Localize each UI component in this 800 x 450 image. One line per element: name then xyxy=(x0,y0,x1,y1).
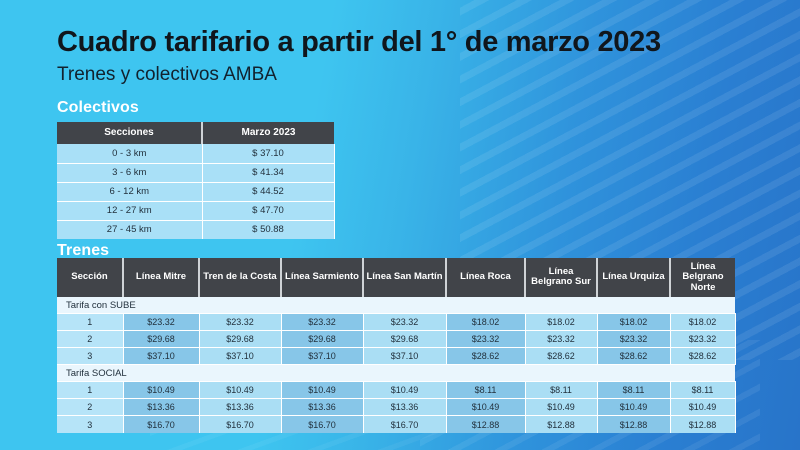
column-header-marzo-2023: Marzo 2023 xyxy=(202,122,334,144)
cell-belgrano-sur: $23.32 xyxy=(525,331,597,348)
table-row: 2 $13.36 $13.36 $13.36 $13.36 $10.49 $10… xyxy=(57,399,735,416)
column-header-linea-roca: Línea Roca xyxy=(446,258,525,297)
cell-sarmiento: $29.68 xyxy=(281,331,363,348)
cell-seccion: 6 - 12 km xyxy=(57,182,202,201)
cell-sarmiento: $37.10 xyxy=(281,348,363,365)
cell-roca: $23.32 xyxy=(446,331,525,348)
cell-roca: $12.88 xyxy=(446,416,525,433)
cell-roca: $18.02 xyxy=(446,314,525,331)
cell-san-martin: $37.10 xyxy=(363,348,446,365)
cell-san-martin: $29.68 xyxy=(363,331,446,348)
cell-sarmiento: $13.36 xyxy=(281,399,363,416)
colectivos-fare-table: Secciones Marzo 2023 0 - 3 km $ 37.10 3 … xyxy=(57,122,335,239)
cell-seccion: 12 - 27 km xyxy=(57,201,202,220)
cell-costa: $29.68 xyxy=(199,331,281,348)
column-header-linea-mitre: Línea Mitre xyxy=(123,258,199,297)
section-heading-colectivos: Colectivos xyxy=(57,99,139,117)
cell-precio: $ 50.88 xyxy=(202,220,334,239)
cell-costa: $23.32 xyxy=(199,314,281,331)
table-row: 3 $37.10 $37.10 $37.10 $37.10 $28.62 $28… xyxy=(57,348,735,365)
cell-mitre: $13.36 xyxy=(123,399,199,416)
table-row: 0 - 3 km $ 37.10 xyxy=(57,144,334,163)
cell-costa: $10.49 xyxy=(199,382,281,399)
cell-mitre: $16.70 xyxy=(123,416,199,433)
cell-seccion: 0 - 3 km xyxy=(57,144,202,163)
column-header-linea-san-martin: Línea San Martín xyxy=(363,258,446,297)
cell-belgrano-norte: $28.62 xyxy=(670,348,735,365)
infographic-canvas: Cuadro tarifario a partir del 1° de marz… xyxy=(0,0,800,450)
group-label-row: Tarifa con SUBE xyxy=(57,297,735,314)
cell-mitre: $23.32 xyxy=(123,314,199,331)
cell-costa: $16.70 xyxy=(199,416,281,433)
cell-seccion: 3 - 6 km xyxy=(57,163,202,182)
cell-roca: $28.62 xyxy=(446,348,525,365)
trenes-fare-table: Sección Línea Mitre Tren de la Costa Lín… xyxy=(57,258,736,433)
cell-belgrano-norte: $10.49 xyxy=(670,399,735,416)
column-header-linea-urquiza: Línea Urquiza xyxy=(597,258,670,297)
cell-belgrano-sur: $8.11 xyxy=(525,382,597,399)
cell-mitre: $29.68 xyxy=(123,331,199,348)
table-row: 27 - 45 km $ 50.88 xyxy=(57,220,334,239)
column-header-linea-belgrano-norte: Línea Belgrano Norte xyxy=(670,258,735,297)
cell-belgrano-sur: $10.49 xyxy=(525,399,597,416)
cell-precio: $ 41.34 xyxy=(202,163,334,182)
table-row: 2 $29.68 $29.68 $29.68 $29.68 $23.32 $23… xyxy=(57,331,735,348)
cell-precio: $ 47.70 xyxy=(202,201,334,220)
page-title: Cuadro tarifario a partir del 1° de marz… xyxy=(57,26,661,59)
column-header-linea-sarmiento: Línea Sarmiento xyxy=(281,258,363,297)
cell-seccion: 3 xyxy=(57,348,123,365)
cell-sarmiento: $10.49 xyxy=(281,382,363,399)
cell-seccion: 2 xyxy=(57,399,123,416)
cell-san-martin: $10.49 xyxy=(363,382,446,399)
cell-precio: $ 37.10 xyxy=(202,144,334,163)
cell-urquiza: $18.02 xyxy=(597,314,670,331)
table-header-row: Sección Línea Mitre Tren de la Costa Lín… xyxy=(57,258,735,297)
group-label-tarifa-social: Tarifa SOCIAL xyxy=(57,365,735,382)
cell-sarmiento: $16.70 xyxy=(281,416,363,433)
table-row: 3 - 6 km $ 41.34 xyxy=(57,163,334,182)
cell-san-martin: $16.70 xyxy=(363,416,446,433)
cell-san-martin: $13.36 xyxy=(363,399,446,416)
table-row: 3 $16.70 $16.70 $16.70 $16.70 $12.88 $12… xyxy=(57,416,735,433)
cell-urquiza: $28.62 xyxy=(597,348,670,365)
cell-urquiza: $8.11 xyxy=(597,382,670,399)
cell-roca: $8.11 xyxy=(446,382,525,399)
cell-urquiza: $12.88 xyxy=(597,416,670,433)
table-row: 6 - 12 km $ 44.52 xyxy=(57,182,334,201)
group-label-tarifa-sube: Tarifa con SUBE xyxy=(57,297,735,314)
cell-seccion: 2 xyxy=(57,331,123,348)
cell-san-martin: $23.32 xyxy=(363,314,446,331)
cell-mitre: $37.10 xyxy=(123,348,199,365)
table-row: 12 - 27 km $ 47.70 xyxy=(57,201,334,220)
column-header-secciones: Secciones xyxy=(57,122,202,144)
cell-urquiza: $23.32 xyxy=(597,331,670,348)
group-label-row: Tarifa SOCIAL xyxy=(57,365,735,382)
cell-belgrano-sur: $12.88 xyxy=(525,416,597,433)
column-header-seccion: Sección xyxy=(57,258,123,297)
cell-belgrano-norte: $18.02 xyxy=(670,314,735,331)
table-row: 1 $10.49 $10.49 $10.49 $10.49 $8.11 $8.1… xyxy=(57,382,735,399)
cell-mitre: $10.49 xyxy=(123,382,199,399)
cell-costa: $37.10 xyxy=(199,348,281,365)
cell-sarmiento: $23.32 xyxy=(281,314,363,331)
table-row: 1 $23.32 $23.32 $23.32 $23.32 $18.02 $18… xyxy=(57,314,735,331)
column-header-tren-de-la-costa: Tren de la Costa xyxy=(199,258,281,297)
cell-seccion: 3 xyxy=(57,416,123,433)
cell-belgrano-norte: $12.88 xyxy=(670,416,735,433)
page-subtitle: Trenes y colectivos AMBA xyxy=(57,64,277,86)
table-header-row: Secciones Marzo 2023 xyxy=(57,122,334,144)
cell-seccion: 1 xyxy=(57,382,123,399)
column-header-linea-belgrano-sur: Línea Belgrano Sur xyxy=(525,258,597,297)
cell-belgrano-sur: $18.02 xyxy=(525,314,597,331)
cell-roca: $10.49 xyxy=(446,399,525,416)
cell-costa: $13.36 xyxy=(199,399,281,416)
cell-seccion: 1 xyxy=(57,314,123,331)
cell-urquiza: $10.49 xyxy=(597,399,670,416)
cell-seccion: 27 - 45 km xyxy=(57,220,202,239)
cell-belgrano-norte: $23.32 xyxy=(670,331,735,348)
cell-precio: $ 44.52 xyxy=(202,182,334,201)
cell-belgrano-norte: $8.11 xyxy=(670,382,735,399)
cell-belgrano-sur: $28.62 xyxy=(525,348,597,365)
